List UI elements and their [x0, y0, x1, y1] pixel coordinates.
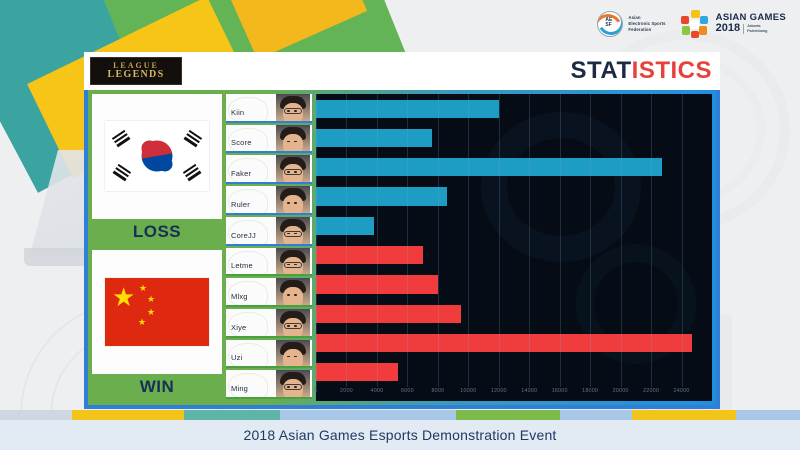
host-city-1: Jakarta	[747, 24, 760, 28]
taegeuk-icon	[142, 141, 173, 172]
player-portrait	[276, 370, 310, 397]
player-cell: Mlxg	[226, 278, 312, 307]
event-caption: 2018 Asian Games Esports Demonstration E…	[243, 427, 556, 443]
player-portrait	[276, 217, 310, 244]
face-shape	[283, 287, 303, 307]
players-column: KiinScoreFakerRulerCoreJJLetmeMlxgXiyeUz…	[226, 94, 312, 401]
aesf-line-3: Federation	[628, 27, 665, 33]
korea-flag-graphic	[105, 121, 209, 191]
player-cell: Letme	[226, 248, 312, 277]
panel-body: LOSS ★ ★ ★ ★ ★ WIN KiinS	[88, 90, 716, 405]
star-icon-2: ★	[147, 295, 155, 304]
league-of-legends-logo: LEAGUE LEGENDS	[90, 57, 182, 85]
player-name: Letme	[226, 261, 253, 274]
eye-icon-left	[287, 202, 290, 204]
chart-gridline	[499, 94, 500, 387]
player-cell: Score	[226, 125, 312, 154]
star-icon-large: ★	[112, 284, 135, 310]
asian-games-host: Jakarta Palembang	[743, 24, 767, 33]
player-name: Kiin	[226, 108, 244, 121]
chart-bar-row	[316, 270, 712, 299]
player-cell: Xiye	[226, 309, 312, 338]
lol-logo-line-2: LEGENDS	[108, 70, 165, 81]
glasses-icon	[284, 169, 302, 175]
axis-tick-label: 24000	[674, 388, 690, 394]
player-portrait	[276, 186, 310, 213]
chart-bar-row	[316, 211, 712, 240]
logo-group: AESF Asian Electronic Sports Federation …	[597, 10, 786, 38]
team-result-china: WIN	[92, 374, 222, 401]
chart-bar-row	[316, 123, 712, 152]
chart-gridline	[468, 94, 469, 387]
player-name: Faker	[226, 169, 251, 182]
player-name: Mlxg	[226, 292, 248, 305]
chart-gridline	[346, 94, 347, 387]
trigram-icon-br	[183, 164, 202, 183]
chart-gridline	[590, 94, 591, 387]
chart-bar-row	[316, 328, 712, 357]
player-name: CoreJJ	[226, 231, 256, 244]
statistics-panel: LEAGUE LEGENDS STATISTICS	[84, 52, 720, 409]
glasses-icon	[284, 262, 302, 268]
page-title: STATISTICS	[571, 57, 712, 85]
host-city-2: Palembang	[747, 29, 767, 33]
eye-icon-right	[294, 202, 297, 204]
player-portrait	[276, 94, 310, 121]
aesf-mark-icon: AESF	[597, 11, 623, 37]
face-shape	[283, 134, 303, 154]
star-icon-4: ★	[138, 318, 146, 327]
asian-games-year-row: 2018 Jakarta Palembang	[716, 23, 786, 35]
player-portrait	[276, 125, 310, 152]
axis-tick-label: 6000	[401, 388, 414, 394]
glasses-icon	[284, 323, 302, 329]
trigram-icon-tl	[112, 130, 131, 149]
player-name: Ruler	[226, 200, 250, 213]
axis-tick-label: 16000	[552, 388, 568, 394]
chart-gridline	[560, 94, 561, 387]
axis-tick-label: 12000	[491, 388, 507, 394]
trigram-icon-bl	[112, 164, 131, 183]
team-result-korea: LOSS	[92, 219, 222, 246]
axis-tick-label: 8000	[431, 388, 444, 394]
chart-bar	[316, 334, 692, 352]
asian-games-logo: ASIAN GAMES 2018 Jakarta Palembang	[680, 10, 786, 38]
screenshot-stage: AESF Asian Electronic Sports Federation …	[0, 0, 800, 450]
page-title-part-dark: STAT	[571, 57, 632, 84]
chart-plot	[316, 94, 712, 387]
player-cell: Ruler	[226, 186, 312, 215]
player-name: Uzi	[226, 353, 242, 366]
axis-tick-label: 20000	[613, 388, 629, 394]
asian-games-wordmark: ASIAN GAMES 2018 Jakarta Palembang	[716, 13, 786, 35]
chart-bar	[316, 129, 432, 147]
eye-icon-right	[294, 294, 297, 296]
china-flag-graphic: ★ ★ ★ ★ ★	[105, 278, 209, 346]
player-name: Xiye	[226, 323, 246, 336]
player-name: Ming	[226, 384, 248, 397]
caption-bar: 2018 Asian Games Esports Demonstration E…	[0, 420, 800, 450]
chart-gridline	[682, 94, 683, 387]
chart-area: 0200040006000800010000120001400016000180…	[316, 94, 712, 401]
chart-bar	[316, 305, 461, 323]
chart-gridline	[407, 94, 408, 387]
player-portrait	[276, 309, 310, 336]
teams-column: LOSS ★ ★ ★ ★ ★ WIN	[92, 94, 222, 401]
axis-tick-label: 0	[314, 388, 317, 394]
player-portrait	[276, 248, 310, 275]
eye-icon-left	[287, 356, 290, 358]
player-name: Score	[226, 138, 252, 151]
axis-tick-label: 14000	[521, 388, 537, 394]
asian-games-year: 2018	[716, 23, 740, 35]
south-korea-flag	[92, 94, 222, 219]
chart-gridline	[316, 94, 317, 387]
aesf-wordmark: Asian Electronic Sports Federation	[628, 15, 665, 32]
chart-gridline	[651, 94, 652, 387]
player-cell: CoreJJ	[226, 217, 312, 246]
eye-icon-left	[287, 294, 290, 296]
face-shape	[283, 349, 303, 369]
axis-tick-label: 18000	[582, 388, 598, 394]
axis-tick-label: 22000	[643, 388, 659, 394]
axis-tick-label: 2000	[340, 388, 353, 394]
chart-gridline	[621, 94, 622, 387]
chart-bar	[316, 217, 374, 235]
chart-bars	[316, 94, 712, 387]
player-cell: Ming	[226, 370, 312, 399]
chart-x-axis: 0200040006000800010000120001400016000180…	[316, 387, 712, 401]
china-flag: ★ ★ ★ ★ ★	[92, 250, 222, 375]
axis-tick-label: 10000	[460, 388, 476, 394]
asian-games-mark-icon	[680, 10, 710, 38]
face-shape	[283, 195, 303, 215]
glasses-icon	[284, 108, 302, 114]
chart-bar-row	[316, 240, 712, 269]
player-portrait	[276, 340, 310, 367]
glasses-icon	[284, 384, 302, 390]
player-portrait	[276, 278, 310, 305]
decorative-strip	[0, 410, 800, 420]
player-portrait	[276, 155, 310, 182]
trigram-icon-tr	[183, 130, 202, 149]
chart-bar	[316, 187, 447, 205]
chart-bar-row	[316, 182, 712, 211]
chart-gridline	[438, 94, 439, 387]
player-cell: Faker	[226, 155, 312, 184]
glasses-icon	[284, 231, 302, 237]
chart-gridline	[377, 94, 378, 387]
chart-bar-row	[316, 358, 712, 387]
star-icon-1: ★	[139, 284, 147, 293]
chart-bar-row	[316, 94, 712, 123]
aesf-abbr-text: AESF	[605, 18, 612, 29]
chart-bar	[316, 363, 398, 381]
chart-bar-row	[316, 299, 712, 328]
axis-tick-label: 4000	[371, 388, 384, 394]
chart-gridline	[529, 94, 530, 387]
eye-icon-right	[294, 356, 297, 358]
player-cell: Kiin	[226, 94, 312, 123]
team-block-china: ★ ★ ★ ★ ★ WIN	[92, 250, 222, 402]
star-icon-3: ★	[147, 308, 155, 317]
team-block-korea: LOSS	[92, 94, 222, 246]
player-cell: Uzi	[226, 340, 312, 369]
chart-bar	[316, 158, 662, 176]
chart-bar-row	[316, 153, 712, 182]
aesf-logo: AESF Asian Electronic Sports Federation	[597, 11, 665, 37]
panel-header: LEAGUE LEGENDS STATISTICS	[84, 52, 720, 90]
page-title-part-red: ISTICS	[632, 57, 712, 84]
